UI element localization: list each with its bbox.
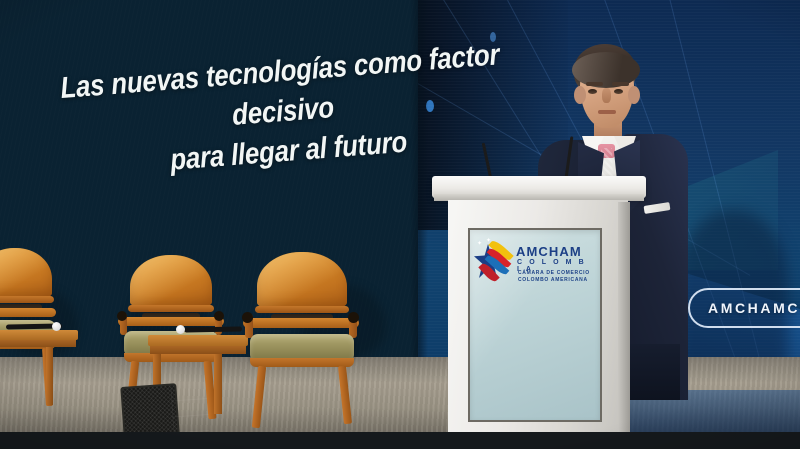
eye-left	[588, 89, 597, 94]
eye-right	[614, 89, 623, 94]
mouth	[598, 110, 616, 114]
event-photo-scene: Las nuevas tecnologías como factor decis…	[0, 0, 800, 449]
floor-monitor-speaker	[120, 381, 209, 439]
amchamcolombia-badge: AMCHAMCOLOMBIA	[688, 288, 800, 328]
stage-front-edge	[0, 432, 800, 449]
amcham-tagline-line-1: CÁMARA DE COMERCIO	[518, 270, 590, 276]
amcham-ministar-icon: ✦	[477, 241, 482, 247]
amcham-logo: ✦ ✦ ✦ AMCHAM C O L O M B I A CÁMARA DE C…	[472, 234, 594, 296]
amcham-wordmark: AMCHAM	[516, 244, 582, 259]
amcham-star-icon: ✦ ✦ ✦	[474, 238, 514, 286]
podium: ✦ ✦ ✦ AMCHAM C O L O M B I A CÁMARA DE C…	[432, 176, 646, 449]
eyebrow-right	[612, 82, 629, 86]
podium-side-panel	[618, 202, 630, 448]
amcham-tagline-line-2: COLOMBO AMERICANA	[518, 277, 588, 283]
ear-left	[574, 86, 586, 104]
ear-right	[628, 86, 640, 104]
nose	[602, 88, 611, 103]
chair-right	[243, 252, 363, 420]
hair-top	[572, 52, 640, 88]
eyebrow-left	[586, 82, 603, 86]
side-table-left	[0, 330, 78, 412]
monitor-cabinet	[170, 383, 209, 433]
